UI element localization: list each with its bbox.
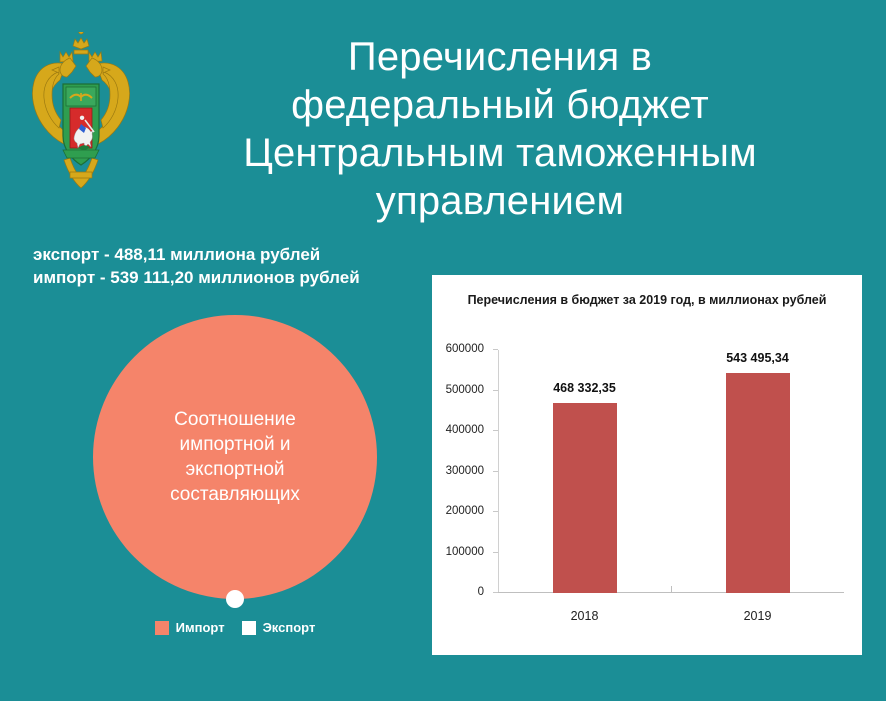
bar-value-label: 543 495,34 — [726, 351, 789, 365]
bar-chart-plot-area: 0100000200000300000400000500000600000 46… — [498, 350, 844, 593]
bar-series: 468 332,352018543 495,342019 — [498, 350, 844, 593]
y-axis-tick-label: 500000 — [446, 384, 484, 396]
legend-label-export: Экспорт — [263, 620, 316, 635]
y-axis-tick-label: 100000 — [446, 546, 484, 558]
bar-2019[interactable] — [726, 373, 790, 593]
legend-swatch-export-icon — [242, 621, 256, 635]
legend-label-import: Импорт — [176, 620, 225, 635]
bar-category-cell: 543 495,342019 — [671, 350, 844, 593]
y-axis-tick-label: 200000 — [446, 505, 484, 517]
bar-value-label: 468 332,35 — [553, 381, 616, 395]
pie-chart: Соотношение импортной и экспортной соста… — [93, 315, 377, 599]
legend-swatch-import-icon — [155, 621, 169, 635]
bar-category-cell: 468 332,352018 — [498, 350, 671, 593]
pie-slice-export — [226, 590, 244, 608]
russian-customs-emblem-icon — [26, 32, 136, 197]
y-axis-tick-label: 600000 — [446, 343, 484, 355]
infographic-poster: Перечисления в федеральный бюджет Центра… — [0, 0, 886, 701]
y-axis-tick-label: 0 — [478, 586, 484, 598]
pie-chart-label: Соотношение импортной и экспортной соста… — [93, 407, 377, 507]
summary-import-line: импорт - 539 111,20 миллионов рублей — [33, 266, 360, 289]
bar-2018[interactable] — [553, 403, 617, 593]
poster-title: Перечисления в федеральный бюджет Центра… — [150, 33, 850, 225]
summary-export-line: экспорт - 488,11 миллиона рублей — [33, 243, 360, 266]
summary-figures: экспорт - 488,11 миллиона рублей импорт … — [33, 243, 360, 289]
bar-chart-title: Перечисления в бюджет за 2019 год, в мил… — [432, 293, 862, 307]
bar-chart-panel: Перечисления в бюджет за 2019 год, в мил… — [432, 275, 862, 655]
y-axis-tick-label: 400000 — [446, 424, 484, 436]
legend-item-import: Импорт — [155, 620, 225, 635]
y-axis-tick-label: 300000 — [446, 465, 484, 477]
x-axis-category-label: 2018 — [571, 609, 599, 623]
x-axis-category-label: 2019 — [744, 609, 772, 623]
legend-item-export: Экспорт — [242, 620, 316, 635]
pie-chart-legend: Импорт Экспорт — [93, 620, 377, 635]
